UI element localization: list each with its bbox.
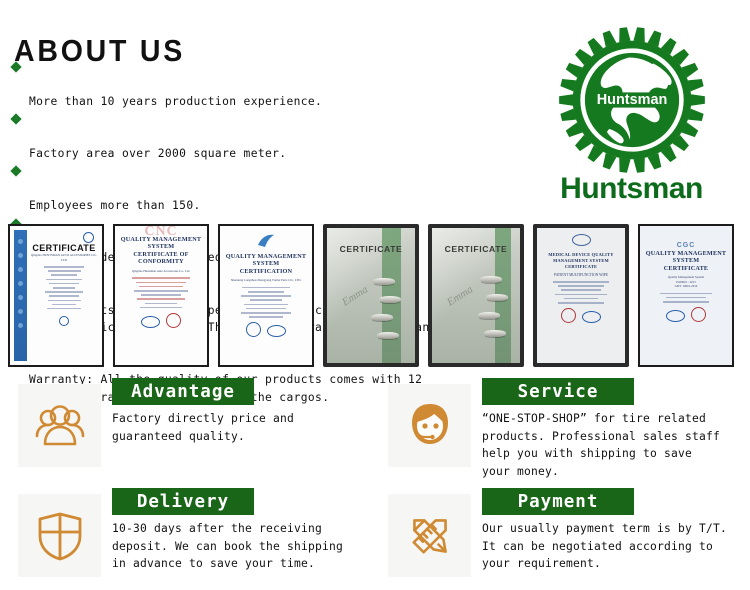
certificate-body-lines	[225, 287, 307, 318]
certificate-title: QUALITY MANAGEMENT SYSTEM CERTIFICATION	[225, 253, 307, 276]
about-item-text: Factory area over 2000 square meter.	[29, 147, 286, 160]
certificate-body-lines	[645, 293, 727, 303]
feature-banner-payment: Payment	[482, 488, 634, 515]
huntsman-gear-globe-icon: Huntsman	[556, 24, 708, 176]
feature-banner-service: Service	[482, 378, 634, 405]
feature-banner-delivery: Delivery	[112, 488, 254, 515]
certificate-body-lines	[120, 277, 202, 308]
pencil-ruler-icon	[404, 510, 456, 562]
diamond-bullet-icon	[10, 114, 21, 125]
certificate-watermark: Emma	[340, 283, 370, 308]
certificate-item[interactable]: MEDICAL DEVICE QUALITY MANAGEMENT SYSTEM…	[533, 224, 629, 367]
about-list-item: Employees more than 150.	[10, 162, 518, 214]
certificate-item[interactable]: CGC QUALITY MANAGEMENT SYSTEM CERTIFICAT…	[638, 224, 734, 367]
feature-advantage: Advantage Factory directly price and gua…	[0, 374, 375, 480]
diamond-bullet-icon	[10, 61, 21, 72]
feature-icon-container	[18, 494, 101, 577]
certificate-title: MEDICAL DEVICE QUALITY MANAGEMENT SYSTEM…	[542, 252, 620, 270]
certificate-subtitle: Quality Management System ISO9001 : 2015…	[645, 275, 727, 288]
feature-text: “ONE-STOP-SHOP” for tire related product…	[482, 410, 740, 480]
people-group-icon	[33, 402, 87, 450]
certificate-title: QUALITY MANAGEMENT SYSTEM CERTIFICATE	[645, 250, 727, 273]
certificate-photo: CERTIFICATE Emma	[327, 228, 415, 363]
about-list-item: More than 10 years production experience…	[10, 58, 518, 110]
certificate-item[interactable]: CERTIFICATE Emma	[428, 224, 524, 367]
certificate-body-lines	[542, 281, 620, 304]
certificate-logo-icon	[225, 233, 307, 251]
headset-operator-icon	[404, 400, 456, 452]
certificate-item[interactable]: CERTIFICATE Qingdao HUNTSMAN AUTO ACCESS…	[8, 224, 104, 367]
feature-icon-container	[388, 494, 471, 577]
feature-text: Factory directly price and guaranteed qu…	[112, 410, 370, 445]
certificate-title: CERTIFICATE	[31, 247, 97, 251]
feature-text: 10-30 days after the receiving deposit. …	[112, 520, 370, 573]
certificate-title: CERTIFICATE	[327, 244, 415, 254]
about-item-text: Employees more than 150.	[29, 199, 201, 212]
feature-icon-container	[18, 384, 101, 467]
certificate-subtitle: Qingdao HUNTSMAN AUTO ACCESSORIES CO., L…	[31, 253, 97, 262]
certificate-item[interactable]: CNC QUALITY MANAGEMENT SYSTEM CERTIFICAT…	[113, 224, 209, 367]
certificate-title: CERTIFICATE	[432, 244, 520, 254]
feature-service: Service “ONE-STOP-SHOP” for tire related…	[370, 374, 745, 480]
certificate-mark: CNC	[120, 230, 202, 234]
certificate-body-lines	[31, 266, 97, 309]
feature-payment: Payment Our usually payment term is by T…	[370, 484, 745, 590]
features-section: Advantage Factory directly price and gua…	[0, 374, 750, 586]
svg-text:Huntsman: Huntsman	[596, 92, 667, 108]
company-logo: Huntsman Huntsman	[513, 14, 750, 219]
feature-text: Our usually payment term is by T/T. It c…	[482, 520, 740, 573]
about-list-item: Factory area over 2000 square meter.	[10, 110, 518, 162]
certificate-subtitle: PATIENT MULTIFUNCTION WIPE	[542, 273, 620, 277]
certificate-photo: CERTIFICATE Emma	[432, 228, 520, 363]
certificate-subtitle: Qingdao Huntsman Auto Accessories Co., L…	[120, 269, 202, 273]
certificate-watermark: Emma	[445, 283, 475, 308]
certificate-subtitle: Shandong Longzhou Zhongyang Trailer Part…	[225, 278, 307, 282]
feature-banner-advantage: Advantage	[112, 378, 254, 405]
logo-wordmark: Huntsman	[513, 172, 750, 206]
about-item-text: More than 10 years production experience…	[29, 95, 322, 108]
certificate-mark: CGC	[645, 244, 727, 248]
feature-icon-container	[388, 384, 471, 467]
shield-cross-icon	[36, 510, 84, 562]
certificate-title: QUALITY MANAGEMENT SYSTEM CERTIFICATE OF…	[120, 236, 202, 266]
certificates-gallery: CERTIFICATE Qingdao HUNTSMAN AUTO ACCESS…	[0, 224, 750, 372]
certificate-item[interactable]: CERTIFICATE Emma	[323, 224, 419, 367]
certificate-item[interactable]: QUALITY MANAGEMENT SYSTEM CERTIFICATION …	[218, 224, 314, 367]
feature-delivery: Delivery 10-30 days after the receiving …	[0, 484, 375, 590]
about-us-section: ABOUT US More than 10 years production e…	[0, 0, 520, 218]
diamond-bullet-icon	[10, 166, 21, 177]
